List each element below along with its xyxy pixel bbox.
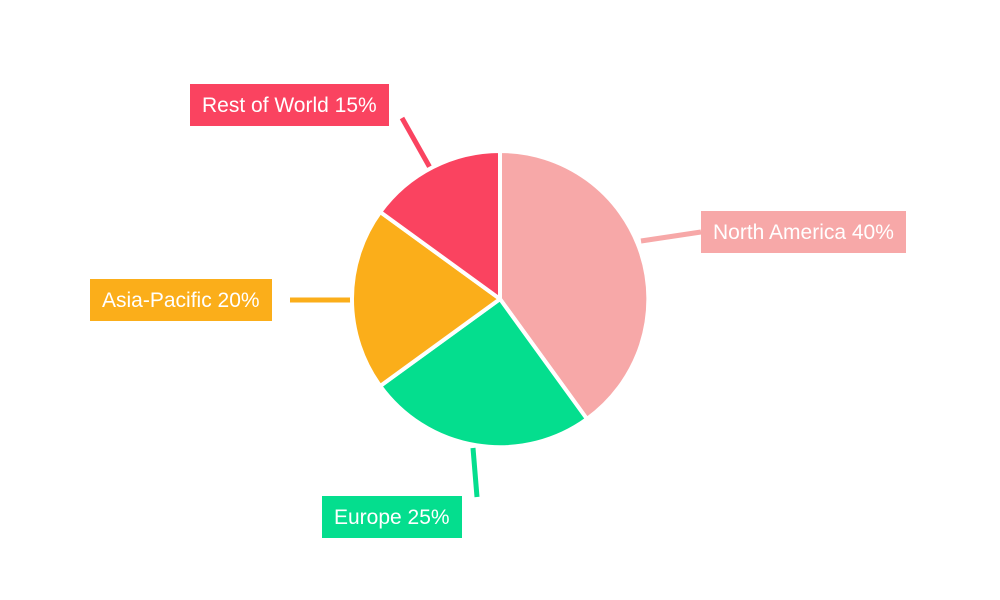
leader-line-north-america xyxy=(641,232,701,241)
leader-line-europe xyxy=(473,448,477,497)
pie-label-north-america-text: North America 40% xyxy=(713,222,894,243)
pie-label-europe-text: Europe 25% xyxy=(334,507,450,528)
pie-label-asia-pacific[interactable]: Asia-Pacific 20% xyxy=(90,279,272,321)
leader-line-rest-of-world xyxy=(402,118,433,173)
pie-label-rest-of-world-text: Rest of World 15% xyxy=(202,95,377,116)
pie-label-europe[interactable]: Europe 25% xyxy=(322,496,462,538)
pie-chart: North America 40% Europe 25% Asia-Pacifi… xyxy=(0,0,1000,600)
pie-label-north-america[interactable]: North America 40% xyxy=(701,211,906,253)
pie-label-rest-of-world[interactable]: Rest of World 15% xyxy=(190,84,389,126)
pie-label-asia-pacific-text: Asia-Pacific 20% xyxy=(102,290,260,311)
